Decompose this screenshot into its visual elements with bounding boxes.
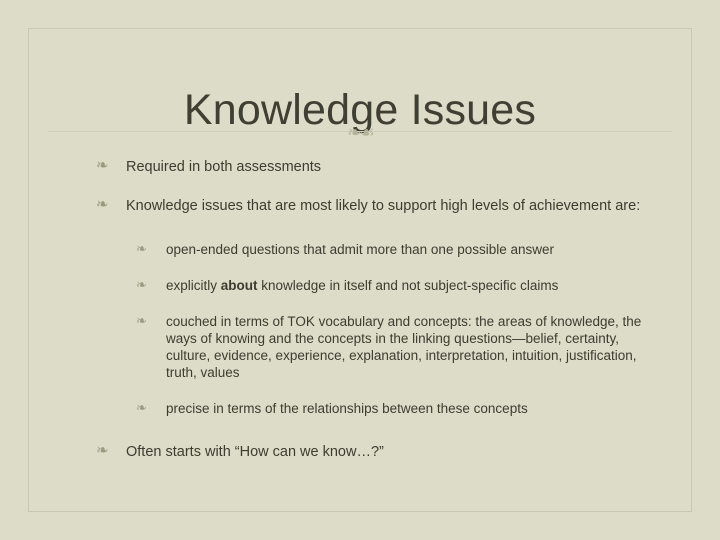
list-item-text: precise in terms of the relationships be… (166, 401, 528, 416)
list-item-text-after: knowledge in itself and not subject-spec… (258, 278, 559, 293)
list-item: ❧ Often starts with “How can we know…?” (70, 443, 660, 461)
list-item-text: Knowledge issues that are most likely to… (126, 198, 640, 214)
list-item: ❧ precise in terms of the relationships … (70, 400, 660, 417)
list-item: ❧ Knowledge issues that are most likely … (70, 197, 660, 215)
list-item: ❧ couched in terms of TOK vocabulary and… (70, 313, 660, 381)
bullet-icon: ❧ (136, 312, 147, 329)
bullet-icon: ❧ (136, 399, 147, 416)
bullet-icon: ❧ (136, 240, 147, 257)
bullet-icon: ❧ (96, 442, 109, 460)
list-item-text: Required in both assessments (126, 159, 321, 175)
list-item-text-before: explicitly (166, 278, 221, 293)
bullet-icon: ❧ (96, 157, 109, 175)
list-item-text: couched in terms of TOK vocabulary and c… (166, 314, 641, 380)
list-item-text: Often starts with “How can we know…?” (126, 444, 384, 460)
slide: Knowledge Issues ❧☙ ❧ Required in both a… (0, 0, 720, 540)
bullet-icon: ❧ (96, 196, 109, 214)
bullet-icon: ❧ (136, 276, 147, 293)
list-item: ❧ Required in both assessments (70, 158, 660, 176)
list-item: ❧ explicitly about knowledge in itself a… (70, 277, 660, 294)
list-item-text-emphasis: about (221, 278, 258, 293)
ornament-icon: ❧☙ (347, 124, 372, 141)
content-list: ❧ Required in both assessments ❧ Knowled… (70, 158, 660, 461)
list-item-text: open-ended questions that admit more tha… (166, 242, 554, 257)
list-item: ❧ open-ended questions that admit more t… (70, 241, 660, 258)
